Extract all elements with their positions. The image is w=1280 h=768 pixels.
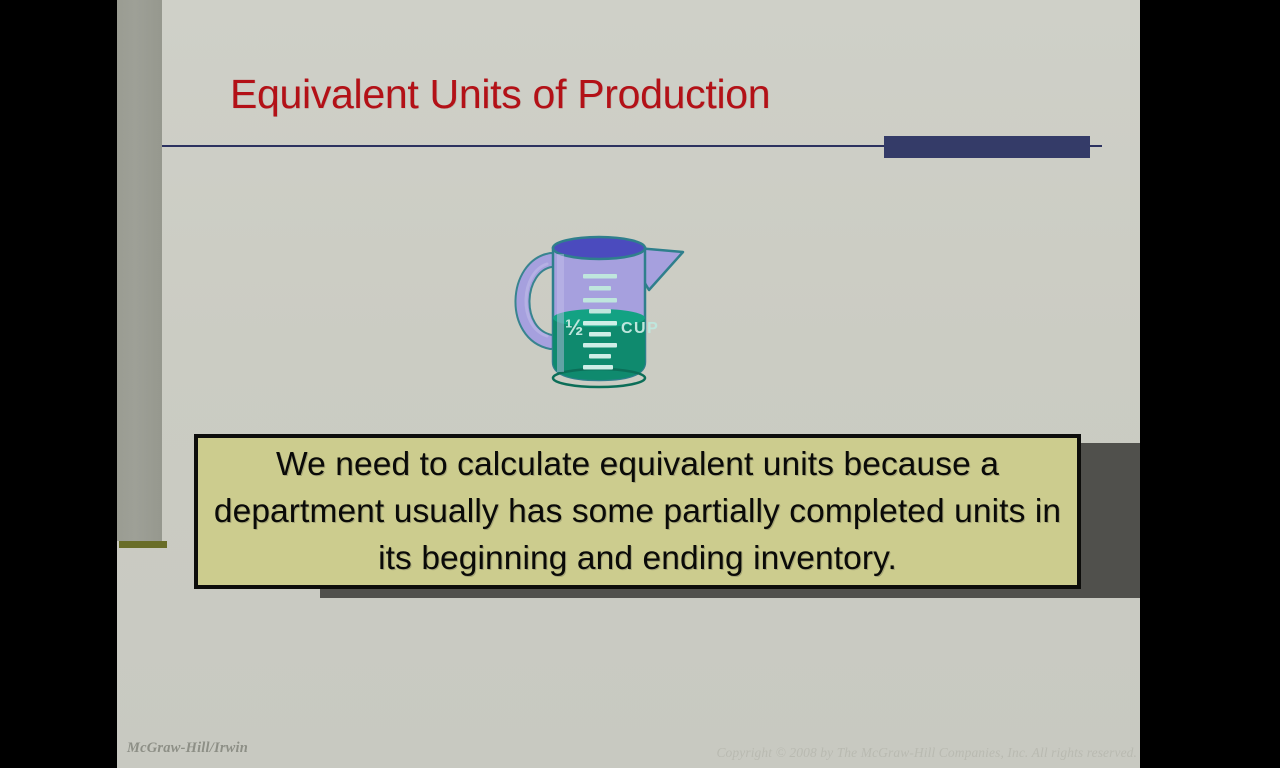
title-accent-block — [884, 136, 1090, 158]
footer-copyright: Copyright © 2008 by The McGraw-Hill Comp… — [716, 745, 1137, 761]
svg-text:CUP: CUP — [621, 320, 659, 337]
footer-publisher: McGraw-Hill/Irwin — [127, 740, 248, 757]
screen-letterbox: Equivalent Units of Production — [0, 0, 1280, 768]
callout-box: We need to calculate equivalent units be… — [194, 434, 1081, 589]
sidebar-decorative-bar — [117, 0, 162, 541]
slide-canvas: Equivalent Units of Production — [117, 0, 1140, 768]
svg-text:½: ½ — [565, 315, 583, 340]
callout-text: We need to calculate equivalent units be… — [198, 441, 1077, 582]
page-title: Equivalent Units of Production — [230, 71, 1090, 118]
measuring-cup-illustration: ½ CUP — [507, 230, 717, 405]
sidebar-accent-bar — [119, 541, 167, 548]
